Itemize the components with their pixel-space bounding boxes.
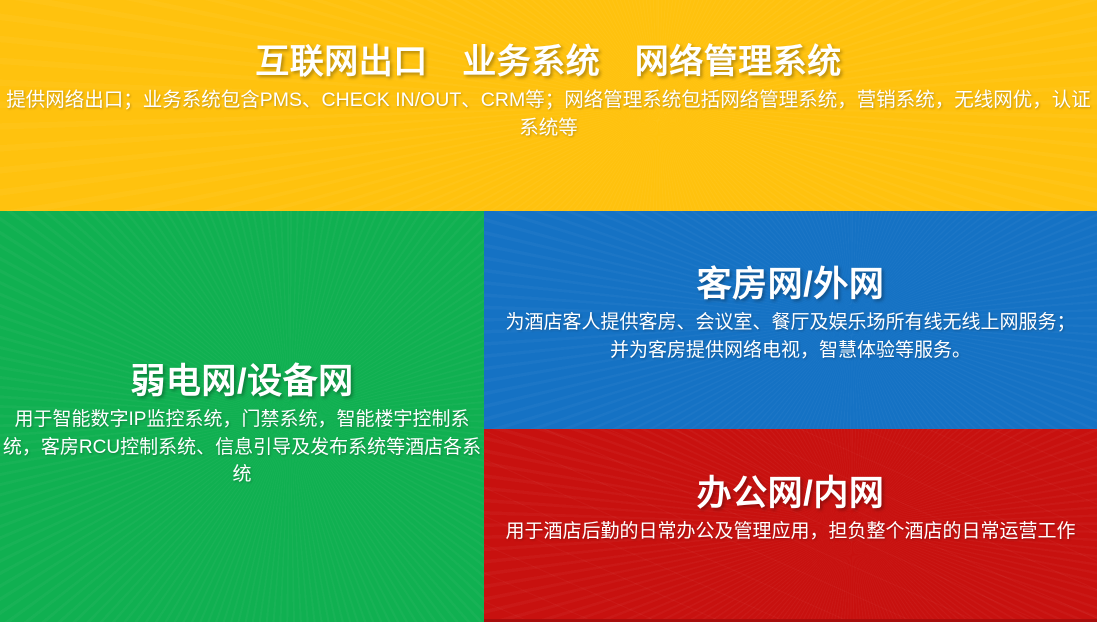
panel-internet-egress-description: 提供网络出口；业务系统包含PMS、CHECK IN/OUT、CRM等；网络管理系…	[1, 82, 1097, 143]
panel-office-internal-network-title: 办公网/内网	[697, 473, 885, 514]
network-zones-slide: 互联网出口 业务系统 网络管理系统 提供网络出口；业务系统包含PMS、CHECK…	[0, 0, 1097, 622]
panel-office-internal-network-description: 用于酒店后勤的日常办公及管理应用，担负整个酒店的日常运营工作	[501, 514, 1081, 546]
panel-guestroom-external-network: 客房网/外网 为酒店客人提供客房、会议室、餐厅及娱乐场所有线无线上网服务；并为客…	[484, 211, 1097, 429]
panel-weak-current-network: 弱电网/设备网 用于智能数字IP监控系统，门禁系统，智能楼宇控制系统，客房RCU…	[0, 211, 484, 622]
panel-internet-egress-title: 互联网出口 业务系统 网络管理系统	[255, 42, 842, 82]
panel-weak-current-network-description: 用于智能数字IP监控系统，门禁系统，智能楼宇控制系统，客房RCU控制系统、信息引…	[2, 402, 482, 489]
panel-internet-egress: 互联网出口 业务系统 网络管理系统 提供网络出口；业务系统包含PMS、CHECK…	[0, 0, 1097, 211]
panel-office-internal-network: 办公网/内网 用于酒店后勤的日常办公及管理应用，担负整个酒店的日常运营工作	[484, 429, 1097, 622]
panel-guestroom-external-network-description: 为酒店客人提供客房、会议室、餐厅及娱乐场所有线无线上网服务；并为客房提供网络电视…	[506, 305, 1076, 364]
panel-weak-current-network-title: 弱电网/设备网	[130, 361, 353, 402]
panel-guestroom-external-network-title: 客房网/外网	[697, 264, 885, 305]
